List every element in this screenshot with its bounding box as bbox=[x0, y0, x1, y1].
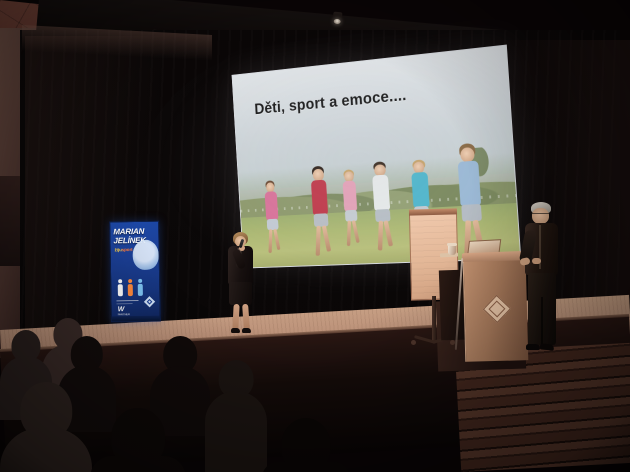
audience-shoulders bbox=[262, 462, 350, 472]
rollup-banner: MARIAN JELÍNEK žijusport W PARTNER bbox=[109, 221, 161, 323]
child-shorts bbox=[461, 204, 481, 222]
presenter-shoe bbox=[231, 328, 240, 333]
flipchart-pole bbox=[432, 296, 436, 342]
cup-icon bbox=[448, 245, 456, 255]
lectern-emblem-icon bbox=[483, 295, 511, 323]
audience-member bbox=[262, 418, 350, 472]
banner-base bbox=[112, 316, 160, 322]
child-shirt bbox=[411, 172, 429, 207]
presenter-leg bbox=[242, 304, 250, 330]
audience-member bbox=[90, 408, 186, 472]
child-shorts bbox=[313, 213, 328, 227]
presenter-shoe bbox=[242, 328, 251, 333]
child-shirt bbox=[264, 191, 278, 220]
flipchart-clip bbox=[409, 208, 457, 215]
auditorium-photo: Děti, sport a emoce.... MARIAN JELÍNEK ž… bbox=[0, 0, 630, 472]
projection-screen: Děti, sport a emoce.... bbox=[232, 45, 522, 269]
audience-shoulders bbox=[90, 456, 186, 472]
screen-frame: Děti, sport a emoce.... bbox=[232, 45, 522, 269]
audience-shoulders bbox=[0, 428, 92, 472]
child-leg bbox=[378, 221, 383, 251]
left-wall-panel bbox=[0, 176, 22, 266]
child-shorts bbox=[345, 210, 358, 222]
presenter-skirt bbox=[229, 282, 252, 305]
child-leg bbox=[383, 221, 392, 248]
banner-figure-icons bbox=[116, 277, 150, 298]
banner-rule bbox=[117, 303, 133, 304]
audience-shoulders bbox=[205, 391, 267, 472]
cup-lid bbox=[447, 243, 457, 246]
person-icon bbox=[136, 279, 144, 297]
child-leg bbox=[322, 225, 331, 251]
banner-tagline-accent: sport bbox=[122, 247, 133, 252]
child-shorts bbox=[375, 209, 390, 223]
audience-member bbox=[0, 382, 92, 472]
speaker-leg-split bbox=[541, 297, 543, 345]
lectern bbox=[462, 252, 528, 362]
speaker-shoe bbox=[540, 343, 554, 350]
speaker-shoe bbox=[526, 344, 540, 350]
presenter-woman bbox=[222, 232, 260, 336]
speaker-man bbox=[520, 202, 566, 354]
banner-portrait bbox=[132, 240, 159, 270]
glasses-icon bbox=[532, 213, 549, 217]
banner-tagline: žijusport bbox=[115, 247, 133, 252]
child-shirt bbox=[372, 175, 390, 211]
child-leg bbox=[347, 220, 351, 245]
speaker-hand bbox=[532, 258, 541, 264]
child-leg bbox=[316, 226, 321, 256]
person-icon bbox=[116, 279, 124, 297]
audience-member bbox=[205, 360, 267, 472]
child-leg bbox=[273, 229, 280, 250]
lectern-body bbox=[463, 260, 529, 362]
banner-logo: W PARTNER bbox=[118, 306, 130, 316]
child-leg bbox=[352, 220, 360, 243]
presenter-leg bbox=[232, 304, 239, 330]
flipchart-wheel bbox=[411, 340, 416, 345]
child-shorts bbox=[267, 219, 279, 230]
child-leg bbox=[268, 229, 272, 253]
child-shirt bbox=[311, 179, 328, 215]
spotlight-icon bbox=[332, 12, 342, 25]
person-icon bbox=[126, 279, 134, 297]
child-shirt bbox=[458, 161, 482, 207]
banner-diamond-icon bbox=[144, 296, 155, 307]
child-shirt bbox=[342, 181, 357, 211]
banner-rule bbox=[117, 300, 139, 301]
